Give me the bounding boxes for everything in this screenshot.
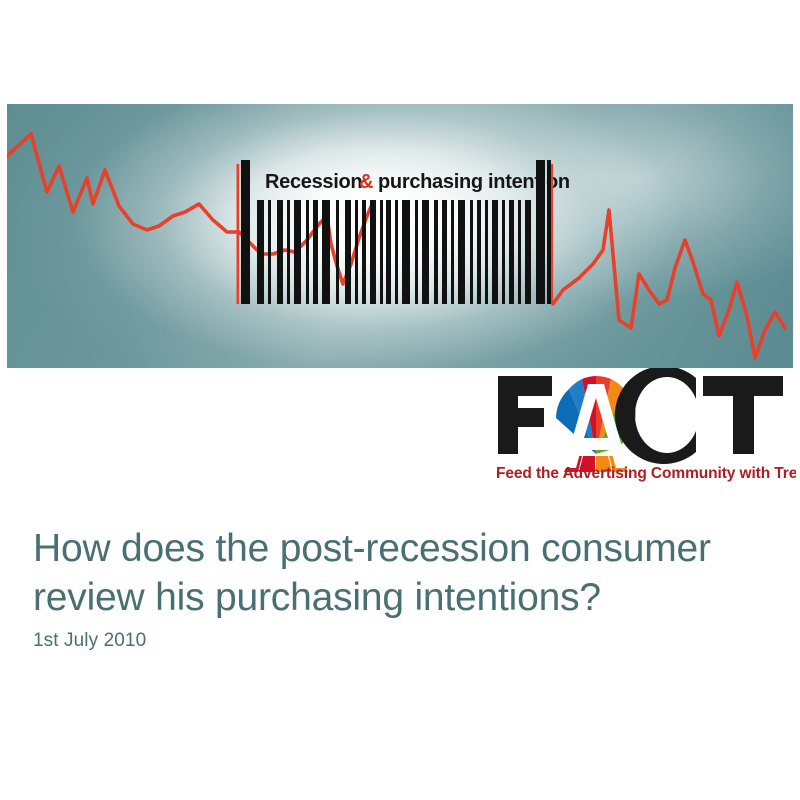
barcode-caption-ampersand: & bbox=[359, 171, 373, 193]
headline-block: How does the post-recession consumer rev… bbox=[33, 524, 763, 622]
barcode-guard-right-a bbox=[536, 160, 545, 304]
slide-title: How does the post-recession consumer rev… bbox=[33, 524, 763, 622]
barcode-guard-left bbox=[241, 160, 250, 304]
logo-letter-f bbox=[498, 376, 552, 454]
title-slide: Recession & purchasing intention bbox=[0, 0, 800, 800]
barcode-caption: Recession bbox=[265, 171, 362, 193]
banner-graphic: Recession & purchasing intention bbox=[7, 104, 793, 368]
hero-banner-image: Recession & purchasing intention bbox=[7, 104, 793, 368]
fact-logo-svg: Feed the Advertising Community with Tren… bbox=[490, 368, 796, 484]
logo-letter-t bbox=[703, 376, 783, 454]
barcode-guard-right-b bbox=[547, 160, 551, 304]
slide-date: 1st July 2010 bbox=[33, 630, 146, 652]
barcode-guard-red-left bbox=[237, 164, 240, 304]
logo-tagline: Feed the Advertising Community with Tren… bbox=[496, 465, 796, 482]
fact-logo: Feed the Advertising Community with Tren… bbox=[490, 368, 796, 484]
logo-letter-c bbox=[615, 368, 696, 464]
trend-line-right bbox=[553, 210, 785, 358]
barcode-graphic: Recession & purchasing intention bbox=[237, 158, 570, 354]
